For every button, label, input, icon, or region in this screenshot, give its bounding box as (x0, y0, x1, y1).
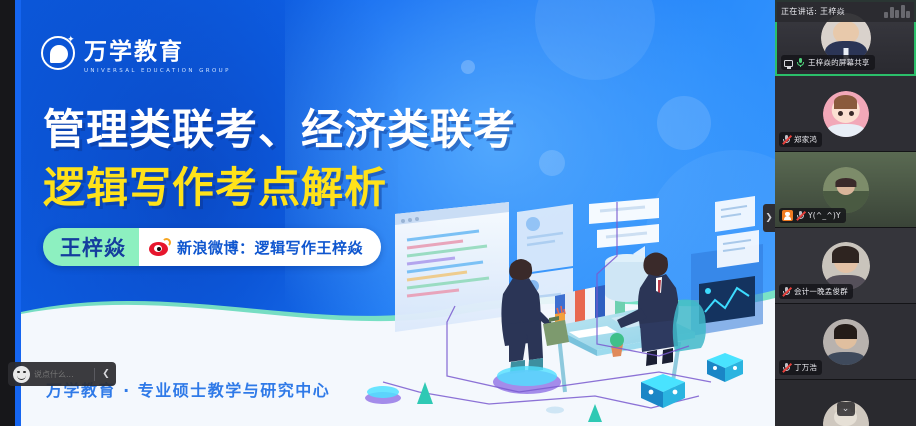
chevron-right-icon[interactable]: ❯ (763, 204, 775, 232)
participant-name: 郑家鸿 (794, 134, 817, 145)
speaker-name: 王梓焱 (43, 228, 139, 266)
decorative-bubble (461, 60, 475, 74)
chevron-down-icon[interactable]: ⌄ (837, 402, 855, 416)
weibo-handle-text: 新浪微博：逻辑写作王梓焱 (177, 237, 363, 258)
composer-divider (94, 368, 95, 381)
host-icon (782, 210, 793, 221)
participant-tile[interactable]: Y(^_^)Y (775, 152, 916, 228)
audio-waveform-icon (884, 5, 910, 18)
screen-share-icon (784, 60, 793, 67)
brand-name-en: UNIVERSAL EDUCATION GROUP (84, 68, 231, 74)
mic-muted-icon (782, 135, 791, 144)
participant-name: 会计一晚孟俊群 (794, 286, 848, 297)
brand-name-cn: 万学教育 (84, 32, 231, 66)
participant-badge: 会计一晚孟俊群 (779, 284, 853, 299)
shared-screen-stage[interactable]: ✦ 万学教育 UNIVERSAL EDUCATION GROUP 管理类联考、经… (0, 0, 775, 426)
chat-input[interactable] (34, 370, 90, 379)
decorative-bubble (657, 96, 711, 150)
mic-muted-icon (796, 211, 805, 220)
avatar (823, 319, 869, 365)
participants-sidebar[interactable]: 王梓焱的屏幕共享 郑家鸿 (775, 0, 916, 426)
decorative-bubble (539, 150, 565, 176)
participant-name: 王梓焱的屏幕共享 (808, 57, 870, 68)
presentation-slide: ✦ 万学教育 UNIVERSAL EDUCATION GROUP 管理类联考、经… (21, 0, 775, 426)
mic-on-icon (796, 58, 805, 67)
participants-scroll-down[interactable]: ⌄ (775, 402, 916, 416)
brand-logo: ✦ 万学教育 UNIVERSAL EDUCATION GROUP (41, 32, 231, 74)
participant-tile[interactable]: 郑家鸿 (775, 76, 916, 152)
slide-title-line-2: 逻辑写作考点解析 (43, 154, 387, 215)
avatar (823, 167, 869, 213)
smiley-icon[interactable] (13, 366, 30, 383)
participant-tile[interactable]: 丁万浩 (775, 304, 916, 380)
mic-muted-icon (782, 287, 791, 296)
weibo-icon (149, 238, 171, 256)
speaking-now-text: 正在讲话: 王梓焱 (781, 6, 845, 17)
participant-badge: 郑家鸿 (779, 132, 822, 147)
participant-badge: 丁万浩 (779, 360, 822, 375)
chevron-left-icon[interactable]: ❮ (99, 365, 113, 383)
participant-tile[interactable]: 会计一晚孟俊群 (775, 228, 916, 304)
sparkle-icon: ✦ (67, 37, 74, 44)
chat-composer[interactable]: ❮ (8, 362, 116, 386)
weibo-handle: 新浪微博：逻辑写作王梓焱 (139, 228, 381, 266)
speaker-info-pill: 王梓焱 新浪微博：逻辑写作王梓焱 (43, 228, 381, 266)
avatar (822, 242, 870, 290)
slide-title-line-1: 管理类联考、经济类联考 (43, 96, 516, 157)
participant-name: Y(^_^)Y (808, 211, 841, 220)
video-conference-window: ✦ 万学教育 UNIVERSAL EDUCATION GROUP 管理类联考、经… (0, 0, 916, 426)
swan-logo-icon: ✦ (41, 36, 75, 70)
speaking-now-banner: 正在讲话: 王梓焱 (775, 0, 916, 22)
participant-badge: Y(^_^)Y (779, 208, 846, 223)
participant-badge: 王梓焱的屏幕共享 (781, 55, 875, 70)
avatar (823, 91, 869, 137)
isometric-office-illustration (359, 196, 775, 426)
mic-muted-icon (782, 363, 791, 372)
participant-name: 丁万浩 (794, 362, 817, 373)
